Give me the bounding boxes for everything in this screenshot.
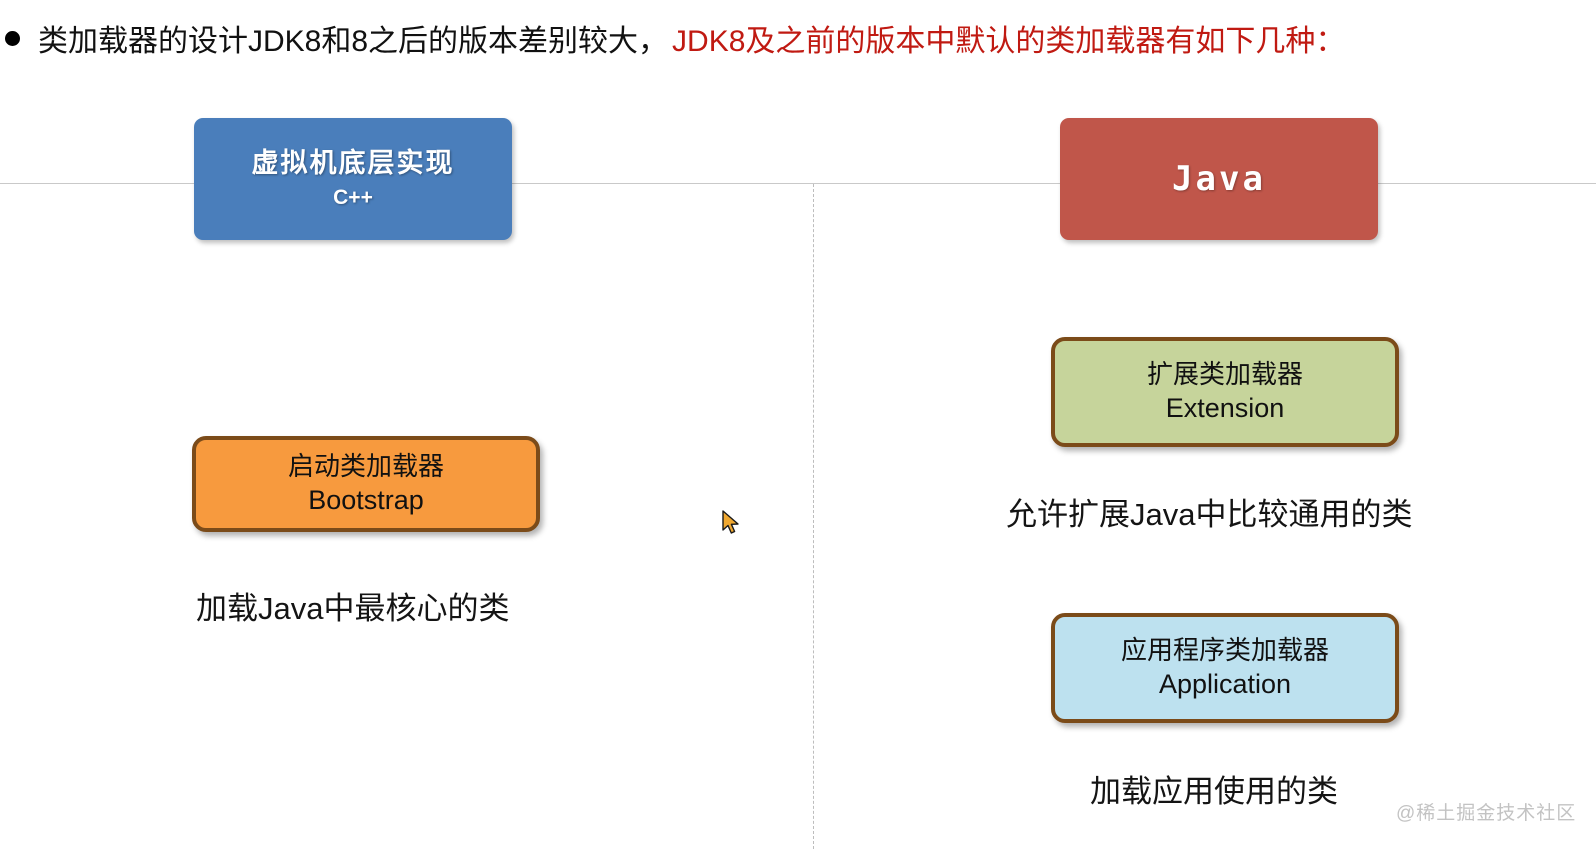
mouse-pointer-icon <box>722 510 742 536</box>
application-classloader-en-label: Application <box>1159 669 1291 701</box>
vertical-dashed-divider <box>813 184 814 849</box>
vm-implementation-subtitle: C++ <box>333 186 373 211</box>
extension-classloader-box: 扩展类加载器 Extension <box>1051 337 1399 447</box>
heading-black-text: 类加载器的设计JDK8和8之后的版本差别较大， <box>38 16 668 60</box>
vm-implementation-box: 虚拟机底层实现 C++ <box>194 118 512 240</box>
heading-red-text: JDK8及之前的版本中默认的类加载器有如下几种： <box>672 16 1345 60</box>
bootstrap-caption: 加载Java中最核心的类 <box>196 583 509 628</box>
slide-canvas: 类加载器的设计JDK8和8之后的版本差别较大， JDK8及之前的版本中默认的类加… <box>0 0 1596 849</box>
bootstrap-classloader-box: 启动类加载器 Bootstrap <box>192 436 540 532</box>
slide-heading: 类加载器的设计JDK8和8之后的版本差别较大， JDK8及之前的版本中默认的类加… <box>0 14 1596 62</box>
vm-implementation-title: 虚拟机底层实现 <box>252 148 455 180</box>
bootstrap-classloader-en-label: Bootstrap <box>308 485 424 517</box>
java-layer-title: Java <box>1172 159 1266 199</box>
bootstrap-classloader-cn-label: 启动类加载器 <box>288 451 444 482</box>
extension-classloader-cn-label: 扩展类加载器 <box>1147 359 1303 390</box>
extension-classloader-en-label: Extension <box>1166 393 1285 425</box>
watermark: @稀土掘金技术社区 <box>1396 798 1576 825</box>
application-caption: 加载应用使用的类 <box>1090 766 1338 811</box>
java-layer-box: Java <box>1060 118 1378 240</box>
bullet-point-icon <box>5 31 20 46</box>
application-classloader-cn-label: 应用程序类加载器 <box>1121 635 1329 666</box>
extension-caption: 允许扩展Java中比较通用的类 <box>1006 489 1412 534</box>
application-classloader-box: 应用程序类加载器 Application <box>1051 613 1399 723</box>
